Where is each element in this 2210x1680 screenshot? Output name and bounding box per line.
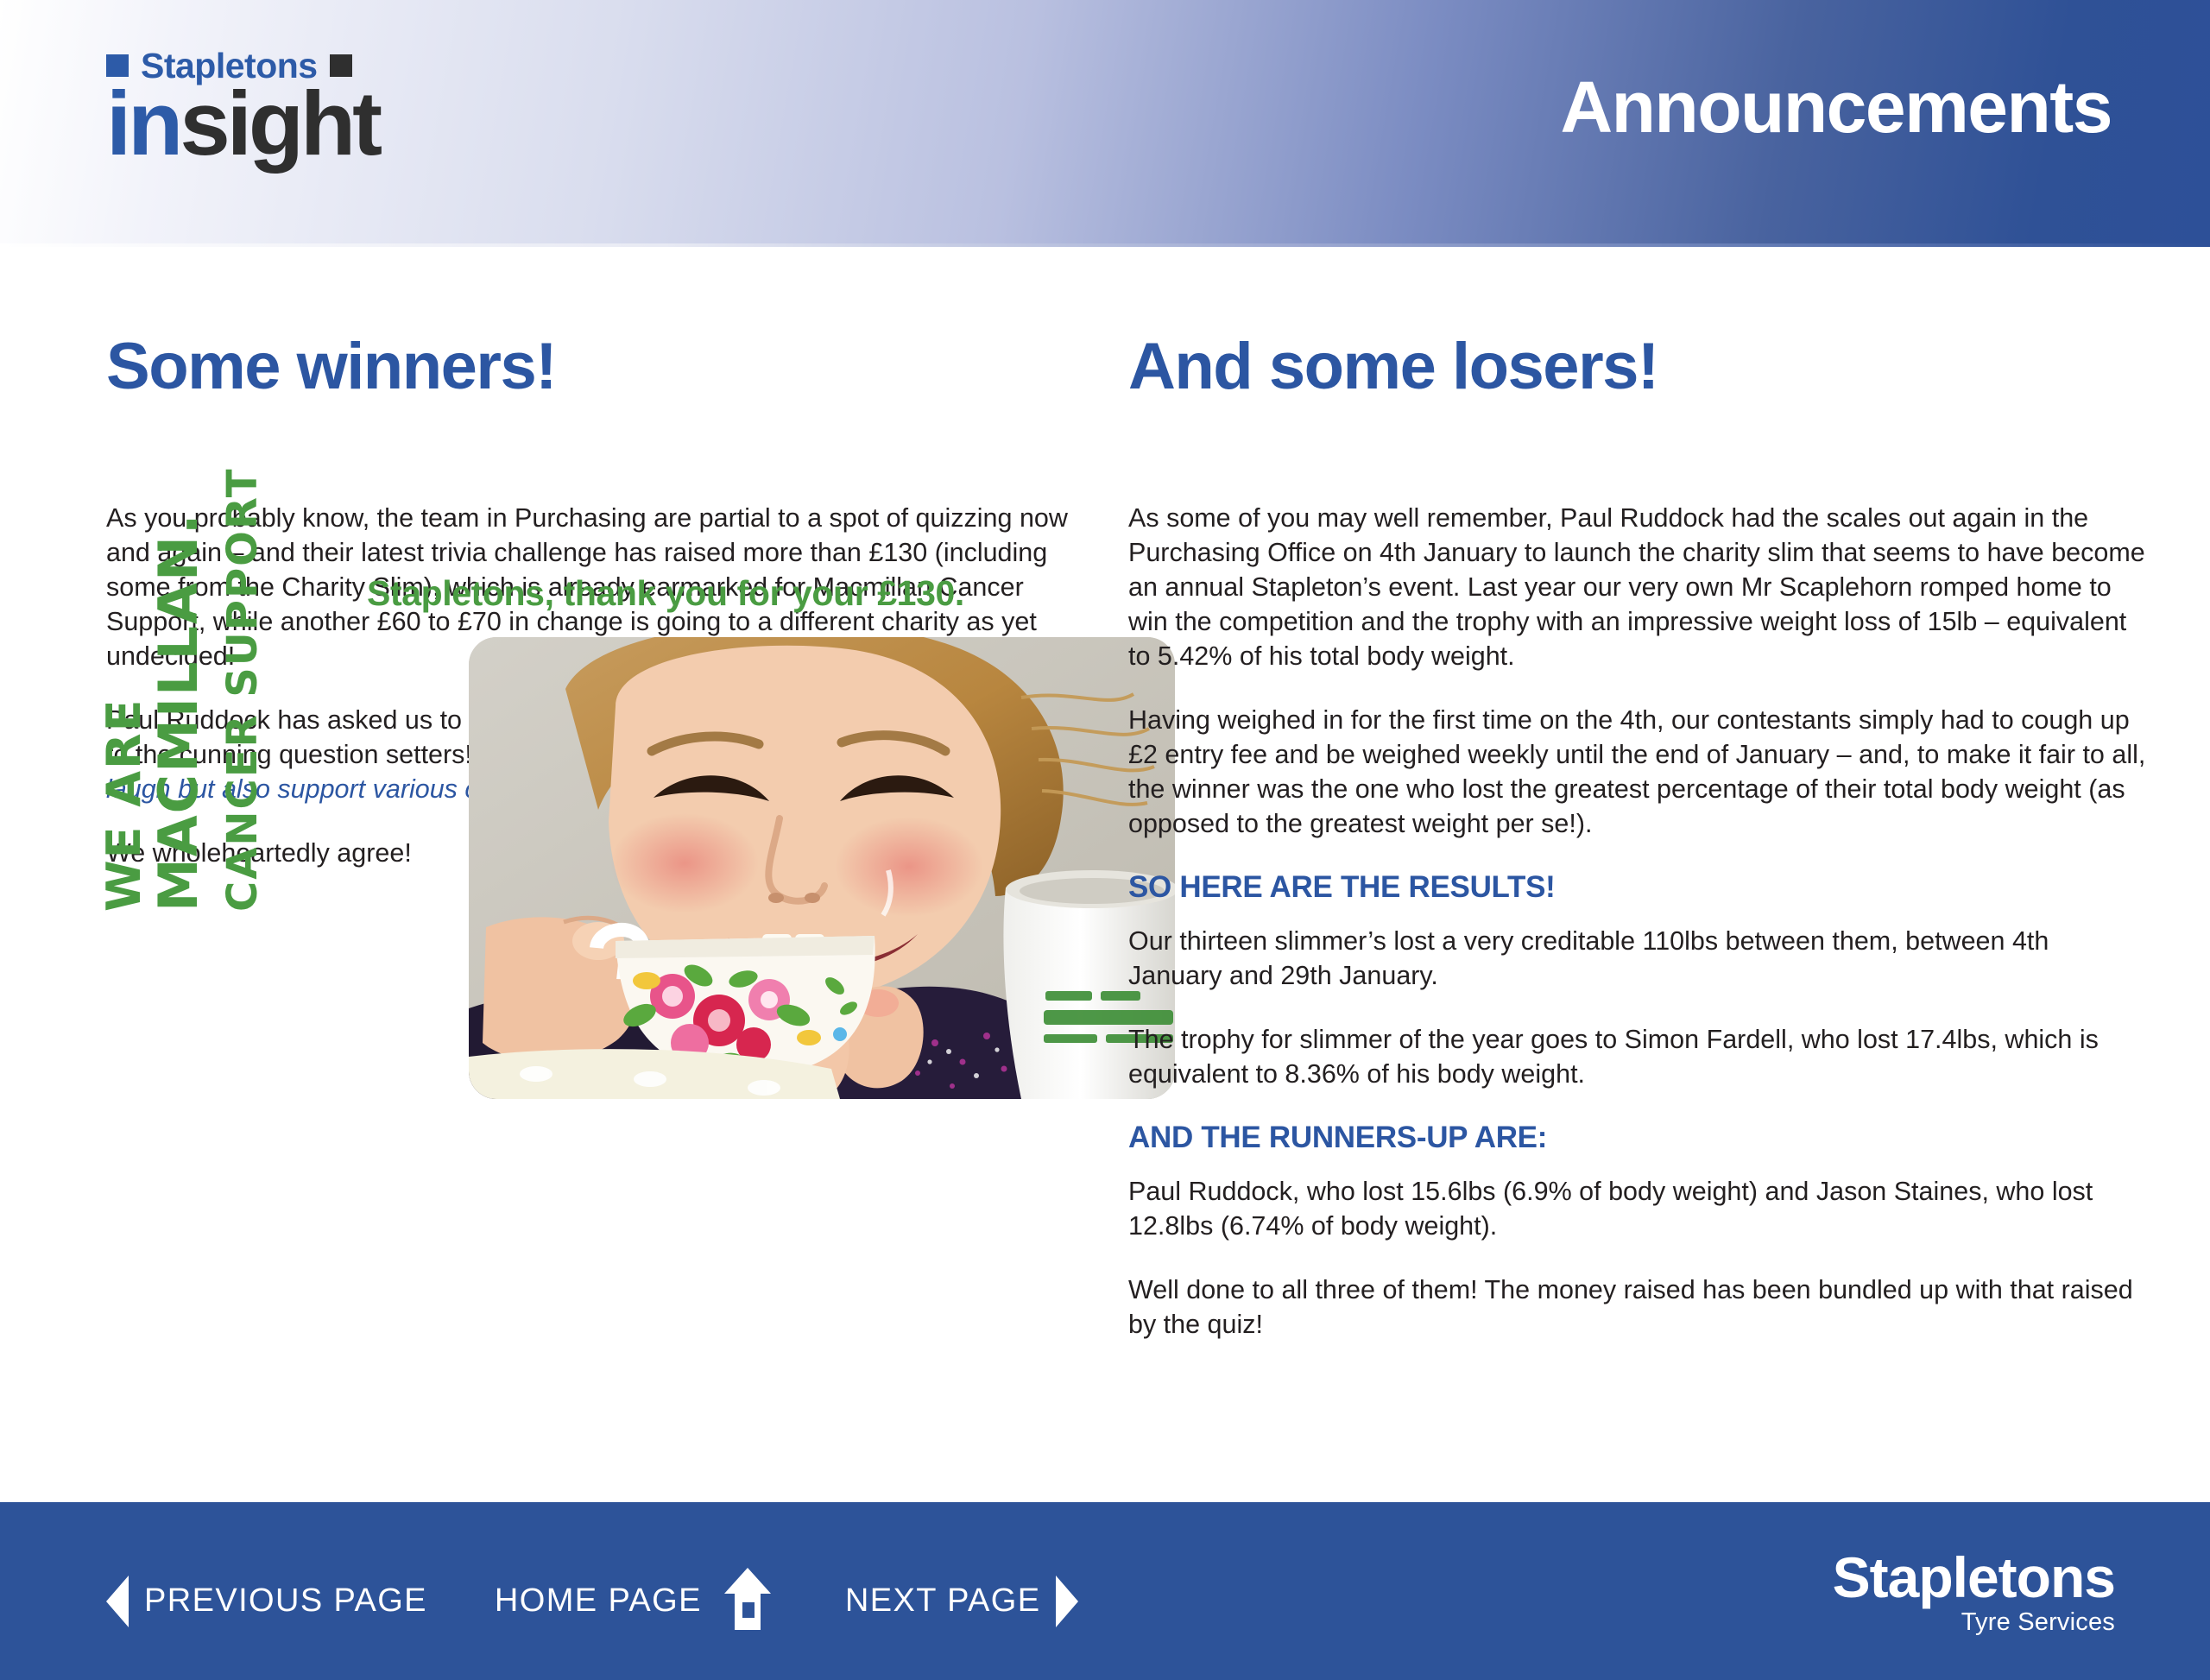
page-footer: PREVIOUS PAGE HOME PAGE NEXT PAGE Staple… xyxy=(0,1502,2210,1680)
right-column: And some losers! As some of you may well… xyxy=(1128,247,2147,1371)
arrow-left-icon xyxy=(106,1576,129,1627)
stapletons-footer-logo: Stapletons Tyre Services xyxy=(1833,1547,2115,1637)
left-column-title: Some winners! xyxy=(106,247,1112,401)
logo-insight-wordmark: insight xyxy=(106,83,379,166)
photo-illustration xyxy=(469,637,1175,1099)
results-heading: SO HERE ARE THE RESULTS! xyxy=(1128,870,2147,905)
insight-logo: Stapletons insight xyxy=(106,50,379,166)
macmillan-line-we-are: WE ARE xyxy=(97,698,151,912)
runners-up-heading: AND THE RUNNERS-UP ARE: xyxy=(1128,1121,2147,1155)
footer-logo-sub: Tyre Services xyxy=(1833,1607,2115,1637)
macmillan-line-macmillan: MACMILLAN. xyxy=(147,513,210,912)
home-page-label: HOME PAGE xyxy=(495,1582,702,1620)
next-page-label: NEXT PAGE xyxy=(845,1582,1041,1620)
right-paragraph-1: As some of you may well remember, Paul R… xyxy=(1128,501,2147,673)
home-page-button[interactable]: HOME PAGE xyxy=(495,1568,778,1634)
left-column: Some winners! As you probably know, the … xyxy=(106,247,1112,900)
next-page-button[interactable]: NEXT PAGE xyxy=(845,1576,1079,1627)
previous-page-button[interactable]: PREVIOUS PAGE xyxy=(106,1576,427,1627)
child-with-teacup-photo xyxy=(469,637,1175,1099)
right-column-title: And some losers! xyxy=(1128,247,2147,401)
results-paragraph-1: Our thirteen slimmer’s lost a very credi… xyxy=(1128,924,2147,993)
page-header: Stapletons insight Announcements xyxy=(0,0,2210,247)
previous-page-label: PREVIOUS PAGE xyxy=(144,1582,427,1620)
page-content: Some winners! As you probably know, the … xyxy=(0,247,2210,1502)
footer-navigation: PREVIOUS PAGE HOME PAGE NEXT PAGE xyxy=(106,1568,1078,1634)
results-paragraph-2: The trophy for slimmer of the year goes … xyxy=(1128,1022,2147,1091)
logo-sight-text: sight xyxy=(180,73,379,174)
arrow-right-icon xyxy=(1056,1576,1078,1627)
runners-up-paragraph-1: Paul Ruddock, who lost 15.6lbs (6.9% of … xyxy=(1128,1174,2147,1243)
macmillan-line-cancer-support: CANCER SUPPORT xyxy=(218,468,267,913)
page-title: Announcements xyxy=(1560,71,2112,143)
runners-up-paragraph-2: Well done to all three of them! The mone… xyxy=(1128,1273,2147,1342)
footer-logo-main: Stapletons xyxy=(1833,1547,2115,1607)
house-icon-svg xyxy=(717,1568,778,1630)
house-icon xyxy=(717,1568,778,1634)
logo-in-text: in xyxy=(106,73,180,174)
right-paragraph-2: Having weighed in for the first time on … xyxy=(1128,703,2147,841)
macmillan-logo: WE ARE MACMILLAN. CANCER SUPPORT xyxy=(106,572,339,917)
thank-you-line: Stapletons, thank you for your £130. xyxy=(367,573,964,614)
